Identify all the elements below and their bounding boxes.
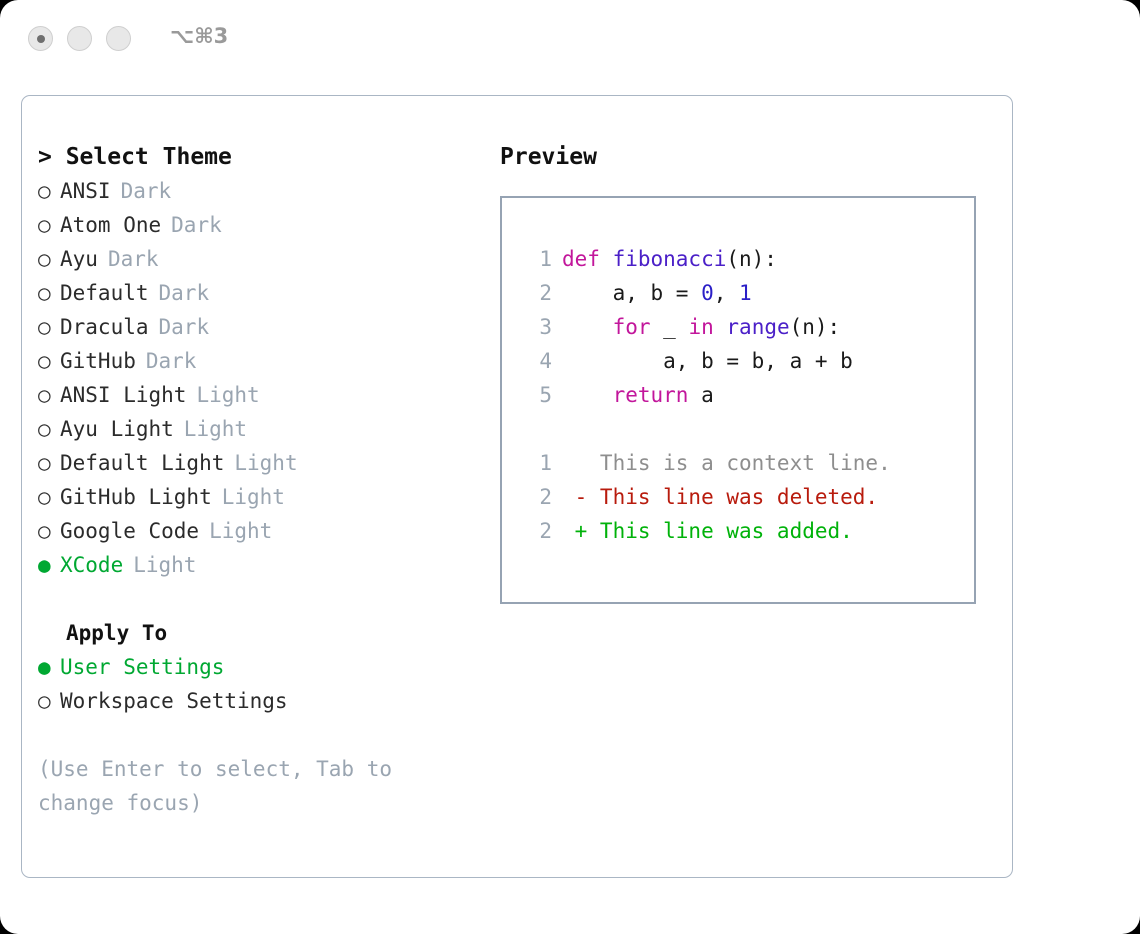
apply-to-header: Apply To (38, 616, 488, 650)
code-line-content: a, b = b, a + b (562, 344, 853, 378)
apply-to-option-row[interactable]: ●User Settings (38, 650, 488, 684)
theme-option-row[interactable]: ○AyuDark (38, 242, 488, 276)
diff-line-content: + This line was added. (562, 514, 853, 548)
code-token-kw: def (562, 247, 613, 271)
code-line-content: for _ in range(n): (562, 310, 840, 344)
theme-option-label: Dracula (60, 310, 149, 344)
record-dot-icon (37, 35, 45, 43)
theme-option-tag: Light (209, 514, 272, 548)
theme-option-row[interactable]: ○DefaultDark (38, 276, 488, 310)
theme-option-tag: Light (184, 412, 247, 446)
diff-sample: 1 This is a context line.2 - This line w… (502, 446, 974, 548)
theme-option-label: GitHub (60, 344, 136, 378)
code-line: 2 a, b = 0, 1 (502, 276, 974, 310)
theme-option-tag: Dark (146, 344, 197, 378)
title-bar: ⌥⌘3 (0, 0, 1140, 78)
code-sample: 1def fibonacci(n):2 a, b = 0, 13 for _ i… (502, 242, 974, 412)
radio-unselected-icon: ○ (38, 378, 60, 412)
theme-option-tag: Dark (171, 208, 222, 242)
code-token-plain: a (688, 383, 713, 407)
code-token-kw: in (688, 315, 713, 339)
radio-unselected-icon: ○ (38, 344, 60, 378)
theme-option-row[interactable]: ●XCodeLight (38, 548, 488, 582)
theme-option-tag: Light (133, 548, 196, 582)
diff-line: 2 + This line was added. (502, 514, 974, 548)
radio-unselected-icon: ○ (38, 208, 60, 242)
theme-option-row[interactable]: ○DraculaDark (38, 310, 488, 344)
code-line: 3 for _ in range(n): (502, 310, 974, 344)
window-control-minimize[interactable] (67, 26, 92, 51)
code-line: 5 return a (502, 378, 974, 412)
theme-option-tag: Dark (159, 276, 210, 310)
theme-option-label: Default Light (60, 446, 224, 480)
diff-line: 2 - This line was deleted. (502, 480, 974, 514)
apply-to-option-label: Workspace Settings (60, 684, 288, 718)
diff-line-content: - This line was deleted. (562, 480, 878, 514)
code-token-fn: range (726, 315, 789, 339)
theme-option-tag: Light (222, 480, 285, 514)
theme-option-row[interactable]: ○ANSI LightLight (38, 378, 488, 412)
code-token-fn: fibonacci (613, 247, 727, 271)
radio-unselected-icon: ○ (38, 310, 60, 344)
code-line: 4 a, b = b, a + b (502, 344, 974, 378)
theme-option-label: ANSI Light (60, 378, 186, 412)
theme-option-label: Ayu (60, 242, 98, 276)
theme-option-label: ANSI (60, 174, 111, 208)
theme-list: ○ANSIDark○Atom OneDark○AyuDark○DefaultDa… (38, 174, 488, 582)
code-token-kw: return (613, 383, 689, 407)
code-line-content: def fibonacci(n): (562, 242, 777, 276)
diff-line-content: This is a context line. (562, 446, 891, 480)
diff-line: 1 This is a context line. (502, 446, 974, 480)
theme-option-label: Google Code (60, 514, 199, 548)
code-diff-spacer (502, 412, 974, 446)
theme-option-label: GitHub Light (60, 480, 212, 514)
preview-box: 1def fibonacci(n):2 a, b = 0, 13 for _ i… (500, 196, 976, 604)
diff-line-number: 2 (522, 514, 552, 548)
main-panel: > Select Theme ○ANSIDark○Atom OneDark○Ay… (21, 95, 1013, 878)
code-token-num: 0 (701, 281, 714, 305)
code-token-plain: (n): (726, 247, 777, 271)
radio-unselected-icon: ○ (38, 446, 60, 480)
code-token-kw: for (613, 315, 651, 339)
apply-to-list: ●User Settings○Workspace Settings (38, 650, 488, 718)
theme-option-tag: Light (196, 378, 259, 412)
theme-option-tag: Light (234, 446, 297, 480)
apply-to-option-label: User Settings (60, 650, 224, 684)
preview-title: Preview (500, 140, 990, 174)
line-number: 3 (522, 310, 552, 344)
radio-selected-icon: ● (38, 548, 60, 582)
line-number: 4 (522, 344, 552, 378)
theme-option-tag: Dark (121, 174, 172, 208)
diff-line-number: 1 (522, 446, 552, 480)
keyboard-hint-text: (Use Enter to select, Tab to change focu… (38, 752, 438, 820)
keyboard-shortcut-label: ⌥⌘3 (170, 24, 228, 48)
code-token-plain (562, 315, 613, 339)
line-number: 1 (522, 242, 552, 276)
line-number: 2 (522, 276, 552, 310)
radio-unselected-icon: ○ (38, 480, 60, 514)
theme-option-tag: Dark (159, 310, 210, 344)
radio-selected-icon: ● (38, 650, 60, 684)
apply-to-option-row[interactable]: ○Workspace Settings (38, 684, 488, 718)
theme-option-row[interactable]: ○Default LightLight (38, 446, 488, 480)
code-token-plain: a, b = (562, 281, 701, 305)
code-line-content: return a (562, 378, 714, 412)
radio-unselected-icon: ○ (38, 174, 60, 208)
theme-option-row[interactable]: ○ANSIDark (38, 174, 488, 208)
theme-option-label: Default (60, 276, 149, 310)
code-line: 1def fibonacci(n): (502, 242, 974, 276)
theme-option-row[interactable]: ○Ayu LightLight (38, 412, 488, 446)
code-token-plain (714, 315, 727, 339)
diff-line-number: 2 (522, 480, 552, 514)
code-line-content: a, b = 0, 1 (562, 276, 752, 310)
app-window: ⌥⌘3 > Select Theme ○ANSIDark○Atom OneDar… (0, 0, 1140, 934)
radio-unselected-icon: ○ (38, 276, 60, 310)
preview-column: Preview 1def fibonacci(n):2 a, b = 0, 13… (500, 140, 990, 604)
window-controls (28, 26, 131, 51)
code-token-plain: (n): (790, 315, 841, 339)
theme-option-row[interactable]: ○GitHub LightLight (38, 480, 488, 514)
radio-unselected-icon: ○ (38, 412, 60, 446)
line-number: 5 (522, 378, 552, 412)
select-theme-header: > Select Theme (38, 140, 488, 174)
section-spacer (38, 582, 488, 616)
theme-option-row[interactable]: ○Google CodeLight (38, 514, 488, 548)
code-token-num: 1 (739, 281, 752, 305)
theme-selection-column: > Select Theme ○ANSIDark○Atom OneDark○Ay… (38, 140, 488, 820)
theme-option-label: Atom One (60, 208, 161, 242)
theme-option-row[interactable]: ○Atom OneDark (38, 208, 488, 242)
radio-unselected-icon: ○ (38, 514, 60, 548)
window-control-close[interactable] (28, 26, 53, 51)
radio-unselected-icon: ○ (38, 242, 60, 276)
radio-unselected-icon: ○ (38, 684, 60, 718)
code-token-plain: a, b = b, a + b (562, 349, 853, 373)
window-control-maximize[interactable] (106, 26, 131, 51)
code-token-plain: , (714, 281, 739, 305)
code-token-plain (562, 383, 613, 407)
theme-option-label: Ayu Light (60, 412, 174, 446)
theme-option-label: XCode (60, 548, 123, 582)
theme-option-tag: Dark (108, 242, 159, 276)
code-token-plain: _ (651, 315, 689, 339)
theme-option-row[interactable]: ○GitHubDark (38, 344, 488, 378)
